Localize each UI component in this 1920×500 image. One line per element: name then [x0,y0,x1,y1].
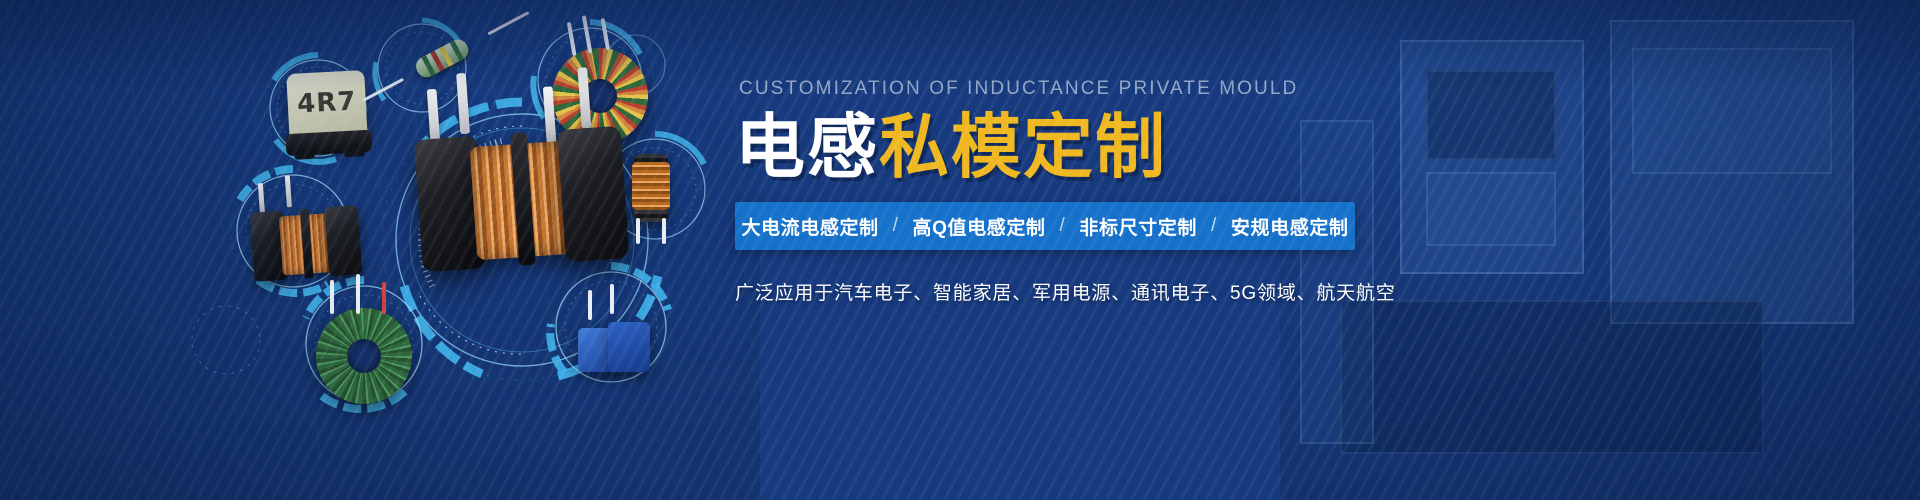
blue-component-body [578,312,652,378]
banner-eyebrow: CUSTOMIZATION OF INDUCTANCE PRIVATE MOUL… [739,78,1865,100]
product-chip-inductor: 4R7 [288,72,366,142]
chip-inductor-code: 4R7 [287,86,366,120]
product-blue-component [578,312,652,378]
machine-base [1340,300,1764,454]
headline-yellow-part: 私模定制 [879,108,1167,186]
blue-component-pin-1 [588,290,592,320]
rod-inductor-body [622,148,680,240]
service-tags-list: 大电流电感定制 / 高Q值电感定制 / 非标尺寸定制 / 安规电感定制 [741,213,1348,240]
product-choke-small [252,196,360,290]
banner-content: CUSTOMIZATION OF INDUCTANCE PRIVATE MOUL… [735,78,1865,305]
service-tags-bar: 大电流电感定制 / 高Q值电感定制 / 非标尺寸定制 / 安规电感定制 [735,202,1355,250]
service-tag-4[interactable]: 安规电感定制 [1231,213,1349,240]
product-choke-large [418,108,625,287]
banner-description: 广泛应用于汽车电子、智能家居、军用电源、通讯电子、5G领域、航天航空 [735,278,1865,305]
choke-large-body [412,101,631,294]
rod-winding [632,162,670,210]
blue-component-pin-2 [610,284,614,314]
service-tag-separator-2: / [1060,215,1066,237]
tech-ring-accent-2 [186,300,266,380]
service-tag-separator-3: / [1211,215,1217,237]
chip-inductor-body: 4R7 [286,70,368,144]
service-tag-2[interactable]: 高Q值电感定制 [913,213,1046,240]
product-rod-inductor [622,148,680,240]
product-toroid-green [316,308,412,404]
promo-banner: 4R7 [0,0,1920,500]
toroid-green-body [316,308,412,404]
choke-small-body [249,192,363,293]
choke-small-bobbin-right [324,205,362,276]
service-tag-1[interactable]: 大电流电感定制 [741,213,878,240]
banner-headline: 电感私模定制 [735,112,1865,182]
service-tag-separator-1: / [893,215,899,237]
axial-band-4 [450,40,464,61]
rod-pin-right [662,218,666,244]
service-tag-3[interactable]: 非标尺寸定制 [1079,213,1197,240]
toroid-green-lead-1 [330,280,334,314]
product-axial-inductor [386,42,506,72]
choke-large-bobbin-right [557,126,630,263]
rod-pin-left [636,218,640,244]
toroid-green-lead-2 [356,274,360,314]
chip-inductor-foot-left [294,147,315,160]
chip-inductor-foot-right [344,144,365,157]
blue-component-block-2 [608,322,650,372]
toroid-green-lead-3 [382,282,386,314]
headline-white-part: 电感 [735,108,879,186]
